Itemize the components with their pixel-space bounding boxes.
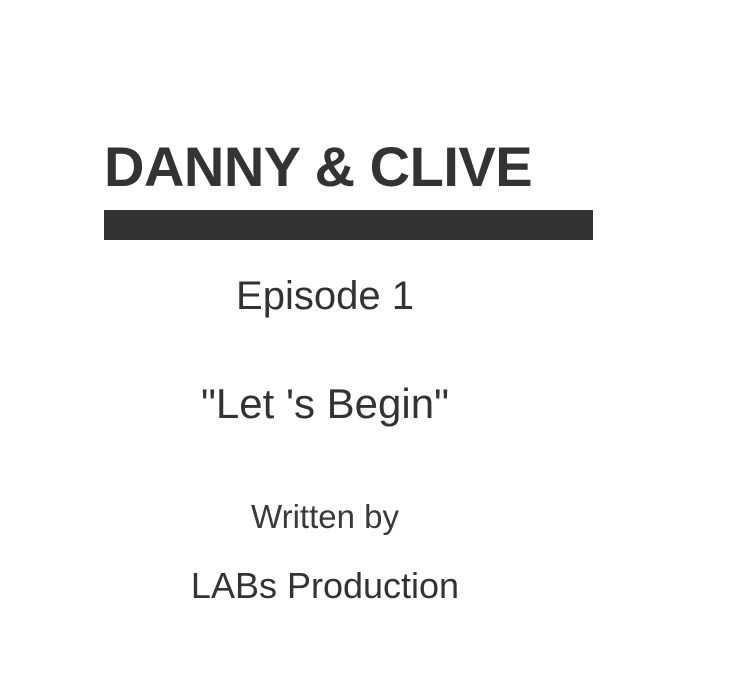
production-house: LABs Production: [0, 537, 650, 607]
written-by-label: Written by: [0, 429, 650, 537]
episode-number: Episode 1: [0, 272, 650, 320]
title-card: DANNY & CLIVE Episode 1 "Let 's Begin" W…: [0, 0, 734, 675]
credits-block: Episode 1 "Let 's Begin" Written by LABs…: [0, 272, 650, 607]
episode-title: "Let 's Begin": [0, 320, 650, 429]
title-block: DANNY & CLIVE: [104, 138, 593, 240]
show-title: DANNY & CLIVE: [104, 138, 593, 197]
title-underline-bar: [104, 210, 593, 240]
